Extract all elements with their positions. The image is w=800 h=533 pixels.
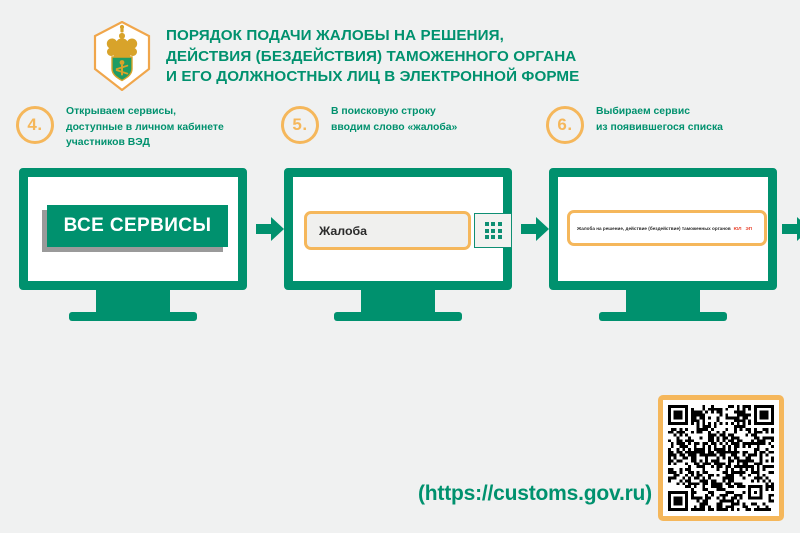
arrow-right-icon-1	[256, 214, 286, 244]
monitor-2-screen: Жалоба	[284, 168, 512, 290]
monitor-3-neck	[626, 290, 700, 312]
qr-code-canvas	[668, 405, 774, 511]
monitor-step-5: Жалоба	[284, 168, 512, 290]
service-result-tags: ЮЛ ЭП	[734, 226, 752, 231]
arrow-right-icon-2	[521, 214, 551, 244]
grid-apps-icon-dots	[485, 222, 502, 239]
search-row: Жалоба	[304, 211, 495, 250]
title-line-3: И ЕГО ДОЛЖНОСТНЫХ ЛИЦ В ЭЛЕКТРОННОЙ ФОРМ…	[166, 67, 732, 88]
monitor-step-6: Жалоба на решение, действие (бездействие…	[549, 168, 777, 290]
step-4-line-2: доступные в личном кабинете	[66, 120, 224, 136]
service-result-item[interactable]: Жалоба на решение, действие (бездействие…	[567, 210, 767, 246]
service-tag-1: ЮЛ	[734, 226, 742, 231]
step-4: 4. Открываем сервисы, доступные в личном…	[16, 104, 266, 166]
monitor-1-base	[69, 312, 197, 321]
all-services-button[interactable]: ВСЕ СЕРВИСЫ	[47, 205, 228, 247]
federal-customs-service-emblem	[92, 21, 152, 91]
step-6: 6. Выбираем сервис из появившегося списк…	[546, 104, 796, 166]
step-4-number: 4.	[16, 106, 54, 144]
monitor-3-screen: Жалоба на решение, действие (бездействие…	[549, 168, 777, 290]
monitor-2-base	[334, 312, 462, 321]
step-5-line-2: вводим слово «жалоба»	[331, 120, 457, 136]
grid-apps-icon[interactable]	[474, 213, 512, 248]
step-6-text: Выбираем сервис из появившегося списка	[596, 104, 723, 135]
monitor-step-4: ВСЕ СЕРВИСЫ	[19, 168, 247, 290]
step-6-line-2: из появившегося списка	[596, 120, 723, 136]
step-6-line-1: Выбираем сервис	[596, 104, 723, 120]
site-url[interactable]: (https://customs.gov.ru)	[418, 482, 652, 506]
step-5-line-1: В поисковую строку	[331, 104, 457, 120]
monitor-2-neck	[361, 290, 435, 312]
step-4-line-3: участников ВЭД	[66, 135, 224, 151]
monitor-3-base	[599, 312, 727, 321]
title-line-1: ПОРЯДОК ПОДАЧИ ЖАЛОБЫ НА РЕШЕНИЯ,	[166, 26, 732, 47]
infographic-root: ПОРЯДОК ПОДАЧИ ЖАЛОБЫ НА РЕШЕНИЯ, ДЕЙСТВ…	[0, 0, 800, 533]
header: ПОРЯДОК ПОДАЧИ ЖАЛОБЫ НА РЕШЕНИЯ, ДЕЙСТВ…	[92, 16, 732, 96]
monitor-1-screen: ВСЕ СЕРВИСЫ	[19, 168, 247, 290]
step-5-number: 5.	[281, 106, 319, 144]
step-4-line-1: Открываем сервисы,	[66, 104, 224, 120]
monitor-1-neck	[96, 290, 170, 312]
step-4-text: Открываем сервисы, доступные в личном ка…	[66, 104, 224, 151]
service-tag-2: ЭП	[745, 226, 752, 231]
step-5-text: В поисковую строку вводим слово «жалоба»	[331, 104, 457, 135]
title-line-2: ДЕЙСТВИЯ (БЕЗДЕЙСТВИЯ) ТАМОЖЕННОГО ОРГАН…	[166, 47, 732, 68]
page-title: ПОРЯДОК ПОДАЧИ ЖАЛОБЫ НА РЕШЕНИЯ, ДЕЙСТВ…	[166, 24, 732, 88]
qr-code-customs-gov-ru[interactable]	[658, 395, 784, 521]
service-result-label: Жалоба на решение, действие (бездействие…	[577, 226, 731, 231]
step-5: 5. В поисковую строку вводим слово «жало…	[281, 104, 531, 166]
step-6-number: 6.	[546, 106, 584, 144]
search-input[interactable]: Жалоба	[304, 211, 471, 250]
arrow-right-icon-3	[782, 214, 800, 244]
